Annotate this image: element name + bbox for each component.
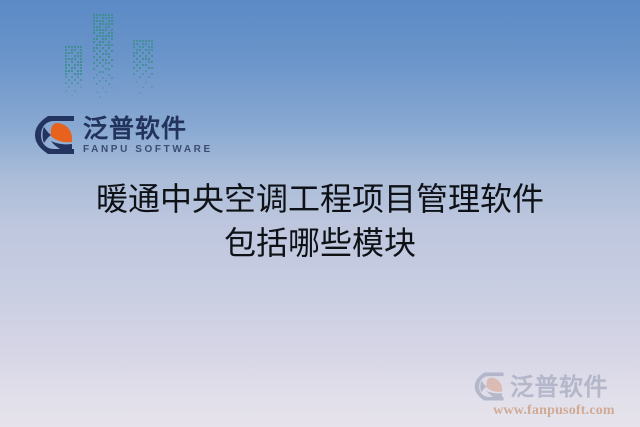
watermark: 泛普软件 www.fanpusoft.com — [474, 371, 634, 419]
page-title-line-1: 暖通中央空调工程项目管理软件 — [0, 178, 640, 222]
page-title-line-2: 包括哪些模块 — [0, 222, 640, 266]
watermark-url: www.fanpusoft.com — [474, 403, 634, 419]
brand-name-en: FANPU SOFTWARE — [83, 144, 213, 156]
watermark-logo-row: 泛普软件 — [474, 371, 634, 402]
brand-name-cn: 泛普软件 — [83, 116, 213, 142]
fanpu-logo-icon — [34, 114, 76, 156]
watermark-fanpu-logo-icon — [474, 371, 505, 402]
brand-logo: 泛普软件 FANPU SOFTWARE — [34, 114, 213, 156]
watermark-brand-name: 泛普软件 — [510, 375, 608, 399]
pixel-skyline-icon — [60, 8, 180, 108]
page-title: 暖通中央空调工程项目管理软件 包括哪些模块 — [0, 178, 640, 265]
promo-banner: 泛普软件 FANPU SOFTWARE 暖通中央空调工程项目管理软件 包括哪些模… — [0, 0, 640, 427]
